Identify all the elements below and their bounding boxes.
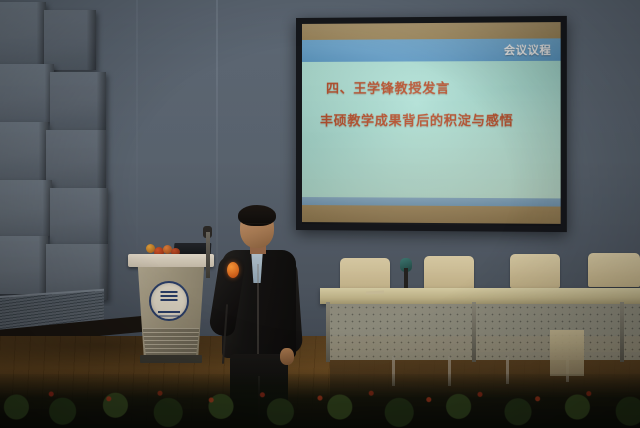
chair — [424, 256, 474, 290]
chair-behind-table — [550, 330, 584, 376]
slide: 会议议程 四、王学锋教授发言 丰硕教学成果背后的积淀与感悟 — [302, 22, 561, 224]
acoustic-panel — [0, 122, 48, 180]
slide-header-band: 会议议程 — [302, 38, 561, 62]
podium-base — [140, 355, 202, 363]
jacket-zipper — [257, 264, 259, 356]
slide-top-band — [302, 22, 561, 40]
acoustic-panel — [50, 72, 106, 130]
slide-header-title: 会议议程 — [504, 41, 552, 58]
acoustic-panel — [0, 64, 54, 122]
table-microphone-stand — [404, 268, 408, 290]
wall-seam-secondary — [136, 0, 138, 250]
table-leg — [326, 302, 330, 362]
institution-emblem-icon — [149, 281, 189, 321]
projection-screen: 会议议程 四、王学锋教授发言 丰硕教学成果背后的积淀与感悟 — [296, 16, 567, 232]
podium-ridges — [138, 328, 204, 355]
acoustic-panel — [50, 188, 108, 244]
acoustic-panel — [0, 236, 48, 294]
conference-hall-photo: 会议议程 四、王学锋教授发言 丰硕教学成果背后的积淀与感悟 — [0, 0, 640, 428]
acoustic-panel — [44, 10, 96, 70]
podium-top-surface — [128, 254, 214, 267]
chair — [340, 258, 390, 292]
acoustic-panel — [0, 2, 46, 64]
table-leg — [472, 302, 476, 362]
acoustic-panel-wall — [0, 0, 132, 306]
acoustic-panel — [0, 180, 52, 236]
slide-text-line-1: 四、王学锋教授发言 — [326, 77, 561, 97]
floor-microphone-stand — [206, 232, 210, 278]
speaker-right-hand — [280, 348, 294, 365]
handheld-microphone-icon — [227, 262, 239, 278]
table-leg — [620, 302, 624, 362]
acoustic-panel — [46, 130, 106, 188]
speaker-glasses-icon — [243, 223, 271, 230]
slide-body: 四、王学锋教授发言 丰硕教学成果背后的积淀与感悟 — [302, 61, 561, 199]
chair — [510, 254, 560, 288]
stage-edge-plants — [0, 374, 640, 428]
slide-bottom-band — [302, 205, 561, 224]
wall-seam — [216, 0, 218, 300]
chair — [588, 253, 640, 287]
table-front-panel — [328, 304, 640, 360]
slide-text-line-2: 丰硕教学成果背后的积淀与感悟 — [320, 110, 561, 129]
